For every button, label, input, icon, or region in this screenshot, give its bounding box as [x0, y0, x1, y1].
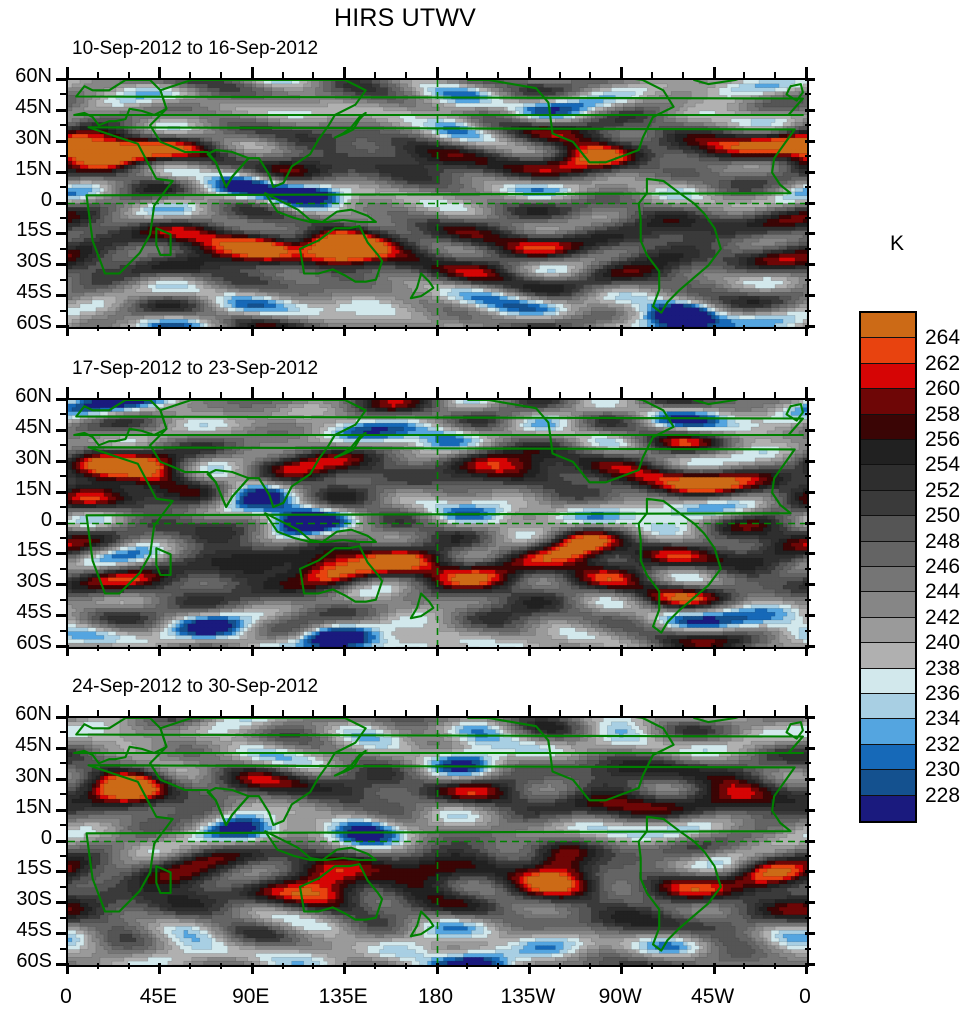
x-tick-major — [528, 963, 531, 974]
x-tick-major — [620, 325, 623, 336]
x-tick-minor-top — [466, 710, 468, 716]
figure-title: HIRS UTWV — [0, 4, 810, 33]
x-tick-major — [713, 645, 716, 656]
y-tick-major — [56, 460, 66, 463]
y-tick-minor — [60, 917, 66, 919]
y-axis-label: 0 — [0, 827, 52, 850]
x-tick-major-top — [66, 67, 69, 78]
y-tick-minor — [60, 599, 66, 601]
colorbar-tick-label: 254 — [925, 453, 960, 477]
x-tick-minor-top — [682, 392, 684, 398]
map-panel-2[interactable] — [66, 716, 809, 967]
colorbar-swatch — [861, 567, 915, 592]
x-tick-minor — [589, 645, 591, 651]
x-tick-minor — [312, 645, 314, 651]
x-tick-minor-top — [405, 710, 407, 716]
y-tick-minor — [60, 630, 66, 632]
x-tick-major — [343, 325, 346, 336]
y-tick-major — [56, 747, 66, 750]
x-tick-minor — [97, 325, 99, 331]
colorbar-tick-label: 238 — [925, 657, 960, 681]
colorbar-tick-label: 248 — [925, 530, 960, 554]
x-tick-minor-top — [774, 710, 776, 716]
y-tick-minor-right — [805, 444, 811, 446]
x-tick-major-top — [436, 705, 439, 716]
y-tick-minor — [60, 93, 66, 95]
x-tick-minor — [189, 645, 191, 651]
x-tick-major — [343, 645, 346, 656]
y-tick-minor-right — [805, 886, 811, 888]
x-tick-minor — [374, 325, 376, 331]
x-tick-minor-top — [651, 72, 653, 78]
x-tick-major-top — [805, 67, 808, 78]
y-tick-minor-right — [805, 155, 811, 157]
x-tick-minor-top — [374, 72, 376, 78]
x-tick-major — [620, 963, 623, 974]
map-field — [68, 718, 807, 965]
x-tick-minor-top — [743, 72, 745, 78]
x-tick-minor — [97, 963, 99, 969]
y-tick-major — [56, 614, 66, 617]
x-tick-minor-top — [282, 710, 284, 716]
y-tick-minor-right — [805, 248, 811, 250]
x-tick-minor — [282, 325, 284, 331]
y-tick-major-right — [805, 460, 815, 463]
y-tick-minor — [60, 413, 66, 415]
x-tick-major — [343, 963, 346, 974]
colorbar-swatch — [861, 415, 915, 440]
x-tick-major-top — [528, 387, 531, 398]
x-tick-minor — [589, 325, 591, 331]
y-tick-major-right — [805, 870, 815, 873]
figure-canvas: HIRS UTWV 10-Sep-2012 to 16-Sep-2012 17-… — [0, 0, 966, 1013]
y-tick-major — [56, 522, 66, 525]
colorbar[interactable] — [859, 311, 917, 823]
x-axis-label: 0 — [750, 985, 860, 1009]
colorbar-swatch — [861, 694, 915, 719]
map-panel-0[interactable] — [66, 78, 809, 329]
x-tick-minor — [374, 963, 376, 969]
x-tick-major — [66, 645, 69, 656]
x-tick-minor-top — [743, 710, 745, 716]
x-tick-minor-top — [128, 710, 130, 716]
y-axis-label: 30N — [0, 447, 52, 470]
y-tick-major-right — [805, 171, 815, 174]
x-tick-minor-top — [220, 392, 222, 398]
x-tick-minor — [743, 645, 745, 651]
x-tick-major-top — [436, 387, 439, 398]
y-tick-major-right — [805, 429, 815, 432]
y-tick-minor-right — [805, 413, 811, 415]
y-tick-major-right — [805, 747, 815, 750]
y-axis-label: 60S — [0, 950, 52, 973]
y-tick-major — [56, 140, 66, 143]
y-tick-minor-right — [805, 731, 811, 733]
colorbar-swatch — [861, 643, 915, 668]
y-tick-major — [56, 716, 66, 719]
x-tick-minor-top — [559, 392, 561, 398]
x-tick-minor-top — [312, 392, 314, 398]
x-tick-minor — [405, 645, 407, 651]
y-tick-major-right — [805, 932, 815, 935]
x-tick-minor — [97, 645, 99, 651]
colorbar-swatch — [861, 313, 915, 338]
x-tick-major-top — [528, 67, 531, 78]
x-tick-major — [713, 963, 716, 974]
colorbar-swatch — [861, 389, 915, 414]
colorbar-tick-label: 240 — [925, 631, 960, 655]
y-tick-major-right — [805, 398, 815, 401]
x-tick-minor-top — [466, 392, 468, 398]
x-tick-minor — [405, 325, 407, 331]
x-tick-major — [620, 645, 623, 656]
map-field — [68, 400, 807, 647]
colorbar-tick-label: 258 — [925, 403, 960, 427]
y-tick-major-right — [805, 552, 815, 555]
x-tick-major-top — [713, 387, 716, 398]
x-tick-major-top — [805, 705, 808, 716]
x-tick-minor — [312, 325, 314, 331]
x-tick-major — [251, 963, 254, 974]
y-axis-label: 15S — [0, 857, 52, 880]
y-tick-major — [56, 232, 66, 235]
x-tick-major — [158, 963, 161, 974]
x-tick-minor-top — [651, 392, 653, 398]
x-tick-minor-top — [589, 72, 591, 78]
x-tick-minor-top — [189, 392, 191, 398]
colorbar-tick-label: 242 — [925, 606, 960, 630]
colorbar-tick-label: 246 — [925, 555, 960, 579]
y-axis-label: 15S — [0, 219, 52, 242]
y-tick-major-right — [805, 294, 815, 297]
x-tick-major-top — [251, 705, 254, 716]
x-tick-minor — [743, 325, 745, 331]
x-tick-minor-top — [682, 72, 684, 78]
y-tick-minor-right — [805, 793, 811, 795]
colorbar-swatch — [861, 669, 915, 694]
y-tick-minor-right — [805, 506, 811, 508]
y-tick-minor — [60, 824, 66, 826]
x-tick-minor-top — [374, 392, 376, 398]
y-tick-major — [56, 325, 66, 328]
y-axis-label: 15N — [0, 478, 52, 501]
y-axis-label: 30N — [0, 127, 52, 150]
y-tick-major-right — [805, 809, 815, 812]
y-axis-label: 30S — [0, 888, 52, 911]
x-tick-minor-top — [589, 392, 591, 398]
x-tick-major — [436, 645, 439, 656]
y-axis-label: 45N — [0, 734, 52, 757]
colorbar-tick-label: 232 — [925, 733, 960, 757]
y-axis-label: 15N — [0, 158, 52, 181]
x-tick-minor — [682, 963, 684, 969]
colorbar-swatch — [861, 516, 915, 541]
y-tick-major — [56, 645, 66, 648]
x-tick-minor-top — [682, 710, 684, 716]
y-axis-label: 60S — [0, 312, 52, 335]
x-tick-minor-top — [220, 710, 222, 716]
y-tick-minor — [60, 444, 66, 446]
x-tick-major — [805, 325, 808, 336]
y-tick-major — [56, 202, 66, 205]
map-field — [68, 80, 807, 327]
y-tick-major — [56, 429, 66, 432]
x-tick-major — [251, 325, 254, 336]
x-tick-major — [436, 325, 439, 336]
y-axis-label: 60S — [0, 632, 52, 655]
x-tick-minor — [497, 325, 499, 331]
y-tick-minor-right — [805, 475, 811, 477]
x-tick-major-top — [66, 387, 69, 398]
y-tick-minor — [60, 537, 66, 539]
x-tick-major-top — [158, 67, 161, 78]
x-tick-major-top — [158, 387, 161, 398]
x-tick-minor-top — [189, 710, 191, 716]
x-tick-minor — [774, 325, 776, 331]
x-tick-minor-top — [589, 710, 591, 716]
x-tick-minor — [774, 645, 776, 651]
x-tick-minor — [497, 645, 499, 651]
y-tick-minor-right — [805, 93, 811, 95]
colorbar-swatch — [861, 338, 915, 363]
x-tick-minor — [682, 325, 684, 331]
x-tick-minor — [282, 645, 284, 651]
y-tick-major-right — [805, 232, 815, 235]
y-tick-minor-right — [805, 217, 811, 219]
y-tick-major — [56, 109, 66, 112]
y-tick-minor — [60, 279, 66, 281]
x-tick-minor — [774, 963, 776, 969]
y-tick-minor-right — [805, 186, 811, 188]
y-tick-major-right — [805, 491, 815, 494]
colorbar-swatch — [861, 440, 915, 465]
x-tick-minor — [220, 963, 222, 969]
y-tick-minor-right — [805, 279, 811, 281]
y-tick-minor — [60, 886, 66, 888]
y-axis-label: 60N — [0, 703, 52, 726]
colorbar-tick-label: 262 — [925, 352, 960, 376]
x-tick-major — [805, 963, 808, 974]
y-axis-label: 30S — [0, 570, 52, 593]
y-tick-minor — [60, 762, 66, 764]
x-tick-major-top — [66, 705, 69, 716]
x-tick-minor-top — [220, 72, 222, 78]
y-tick-minor — [60, 948, 66, 950]
x-tick-major-top — [805, 387, 808, 398]
x-tick-major-top — [158, 705, 161, 716]
x-tick-minor — [466, 963, 468, 969]
colorbar-swatch — [861, 770, 915, 795]
y-tick-major — [56, 809, 66, 812]
y-axis-label: 30N — [0, 765, 52, 788]
y-tick-minor — [60, 506, 66, 508]
y-axis-label: 45N — [0, 96, 52, 119]
y-tick-major-right — [805, 140, 815, 143]
panel-title-1: 17-Sep-2012 to 23-Sep-2012 — [72, 358, 318, 380]
x-tick-major — [528, 645, 531, 656]
x-tick-major — [528, 325, 531, 336]
x-tick-minor-top — [189, 72, 191, 78]
y-axis-label: 15S — [0, 539, 52, 562]
y-tick-major — [56, 398, 66, 401]
x-tick-minor — [651, 325, 653, 331]
x-tick-minor — [651, 645, 653, 651]
y-tick-minor-right — [805, 599, 811, 601]
y-tick-major — [56, 491, 66, 494]
y-tick-minor-right — [805, 762, 811, 764]
y-tick-major — [56, 963, 66, 966]
x-tick-minor — [220, 645, 222, 651]
x-tick-minor-top — [466, 72, 468, 78]
x-tick-major-top — [713, 67, 716, 78]
y-tick-major-right — [805, 583, 815, 586]
x-tick-minor — [466, 645, 468, 651]
x-tick-minor-top — [774, 392, 776, 398]
x-tick-major-top — [620, 705, 623, 716]
x-tick-minor — [312, 963, 314, 969]
colorbar-tick-label: 236 — [925, 682, 960, 706]
x-tick-major-top — [713, 705, 716, 716]
y-tick-minor — [60, 793, 66, 795]
y-tick-minor-right — [805, 630, 811, 632]
y-tick-minor-right — [805, 855, 811, 857]
x-tick-minor — [682, 645, 684, 651]
x-tick-minor-top — [559, 710, 561, 716]
y-tick-major-right — [805, 840, 815, 843]
y-tick-major — [56, 870, 66, 873]
x-tick-major — [158, 645, 161, 656]
x-tick-major-top — [620, 67, 623, 78]
x-tick-minor-top — [497, 72, 499, 78]
x-tick-major-top — [436, 67, 439, 78]
x-tick-minor-top — [774, 72, 776, 78]
y-tick-major — [56, 171, 66, 174]
y-tick-major-right — [805, 263, 815, 266]
x-tick-major-top — [343, 705, 346, 716]
y-tick-major — [56, 583, 66, 586]
y-tick-major-right — [805, 78, 815, 81]
x-tick-major — [66, 963, 69, 974]
colorbar-tick-label: 228 — [925, 784, 960, 808]
y-axis-label: 45S — [0, 919, 52, 942]
x-tick-minor — [128, 645, 130, 651]
x-tick-minor — [374, 645, 376, 651]
x-tick-minor-top — [97, 72, 99, 78]
y-axis-label: 45S — [0, 281, 52, 304]
x-tick-minor-top — [312, 710, 314, 716]
x-tick-minor-top — [282, 392, 284, 398]
colorbar-swatch — [861, 542, 915, 567]
colorbar-tick-label: 234 — [925, 707, 960, 731]
y-tick-minor — [60, 731, 66, 733]
colorbar-tick-label: 260 — [925, 377, 960, 401]
y-tick-minor — [60, 124, 66, 126]
x-tick-minor — [282, 963, 284, 969]
x-tick-minor-top — [97, 392, 99, 398]
x-tick-minor — [559, 963, 561, 969]
y-tick-major — [56, 552, 66, 555]
x-tick-major — [713, 325, 716, 336]
y-tick-major — [56, 78, 66, 81]
x-tick-minor — [220, 325, 222, 331]
x-tick-minor-top — [374, 710, 376, 716]
x-tick-minor-top — [651, 710, 653, 716]
y-axis-label: 15N — [0, 796, 52, 819]
x-tick-major-top — [343, 67, 346, 78]
x-tick-minor — [128, 325, 130, 331]
y-tick-major-right — [805, 778, 815, 781]
colorbar-swatch — [861, 491, 915, 516]
y-tick-minor — [60, 568, 66, 570]
x-tick-major — [158, 325, 161, 336]
y-tick-minor-right — [805, 310, 811, 312]
y-tick-major — [56, 932, 66, 935]
x-tick-major-top — [251, 387, 254, 398]
colorbar-tick-label: 264 — [925, 326, 960, 350]
y-tick-major-right — [805, 614, 815, 617]
colorbar-swatch — [861, 592, 915, 617]
colorbar-swatch — [861, 364, 915, 389]
colorbar-swatch — [861, 465, 915, 490]
y-axis-label: 60N — [0, 65, 52, 88]
x-tick-minor-top — [405, 392, 407, 398]
y-tick-major — [56, 294, 66, 297]
panel-title-0: 10-Sep-2012 to 16-Sep-2012 — [72, 38, 318, 60]
y-tick-minor — [60, 855, 66, 857]
x-tick-minor-top — [743, 392, 745, 398]
y-axis-label: 30S — [0, 250, 52, 273]
x-tick-major-top — [343, 387, 346, 398]
x-tick-minor-top — [128, 392, 130, 398]
y-tick-minor-right — [805, 568, 811, 570]
y-tick-major-right — [805, 202, 815, 205]
x-tick-minor — [589, 963, 591, 969]
x-tick-minor — [559, 325, 561, 331]
y-tick-minor — [60, 186, 66, 188]
y-axis-label: 60N — [0, 385, 52, 408]
x-tick-minor — [405, 963, 407, 969]
x-tick-minor-top — [128, 72, 130, 78]
colorbar-tick-label: 244 — [925, 580, 960, 604]
x-tick-major-top — [620, 387, 623, 398]
x-tick-minor — [189, 325, 191, 331]
colorbar-swatch — [861, 796, 915, 821]
x-tick-minor — [651, 963, 653, 969]
y-axis-label: 45S — [0, 601, 52, 624]
map-panel-1[interactable] — [66, 398, 809, 649]
colorbar-tick-label: 230 — [925, 758, 960, 782]
y-tick-minor-right — [805, 537, 811, 539]
x-tick-minor-top — [97, 710, 99, 716]
y-axis-label: 0 — [0, 189, 52, 212]
x-tick-minor — [466, 325, 468, 331]
y-tick-minor — [60, 475, 66, 477]
y-tick-minor — [60, 310, 66, 312]
colorbar-swatch — [861, 745, 915, 770]
y-tick-minor-right — [805, 124, 811, 126]
y-tick-minor-right — [805, 824, 811, 826]
colorbar-unit-label: K — [890, 232, 904, 256]
x-tick-minor-top — [312, 72, 314, 78]
x-tick-minor-top — [497, 710, 499, 716]
x-tick-minor — [559, 645, 561, 651]
x-tick-minor-top — [405, 72, 407, 78]
x-tick-minor-top — [497, 392, 499, 398]
y-tick-minor — [60, 217, 66, 219]
y-tick-major-right — [805, 109, 815, 112]
y-tick-major — [56, 778, 66, 781]
colorbar-swatch — [861, 719, 915, 744]
